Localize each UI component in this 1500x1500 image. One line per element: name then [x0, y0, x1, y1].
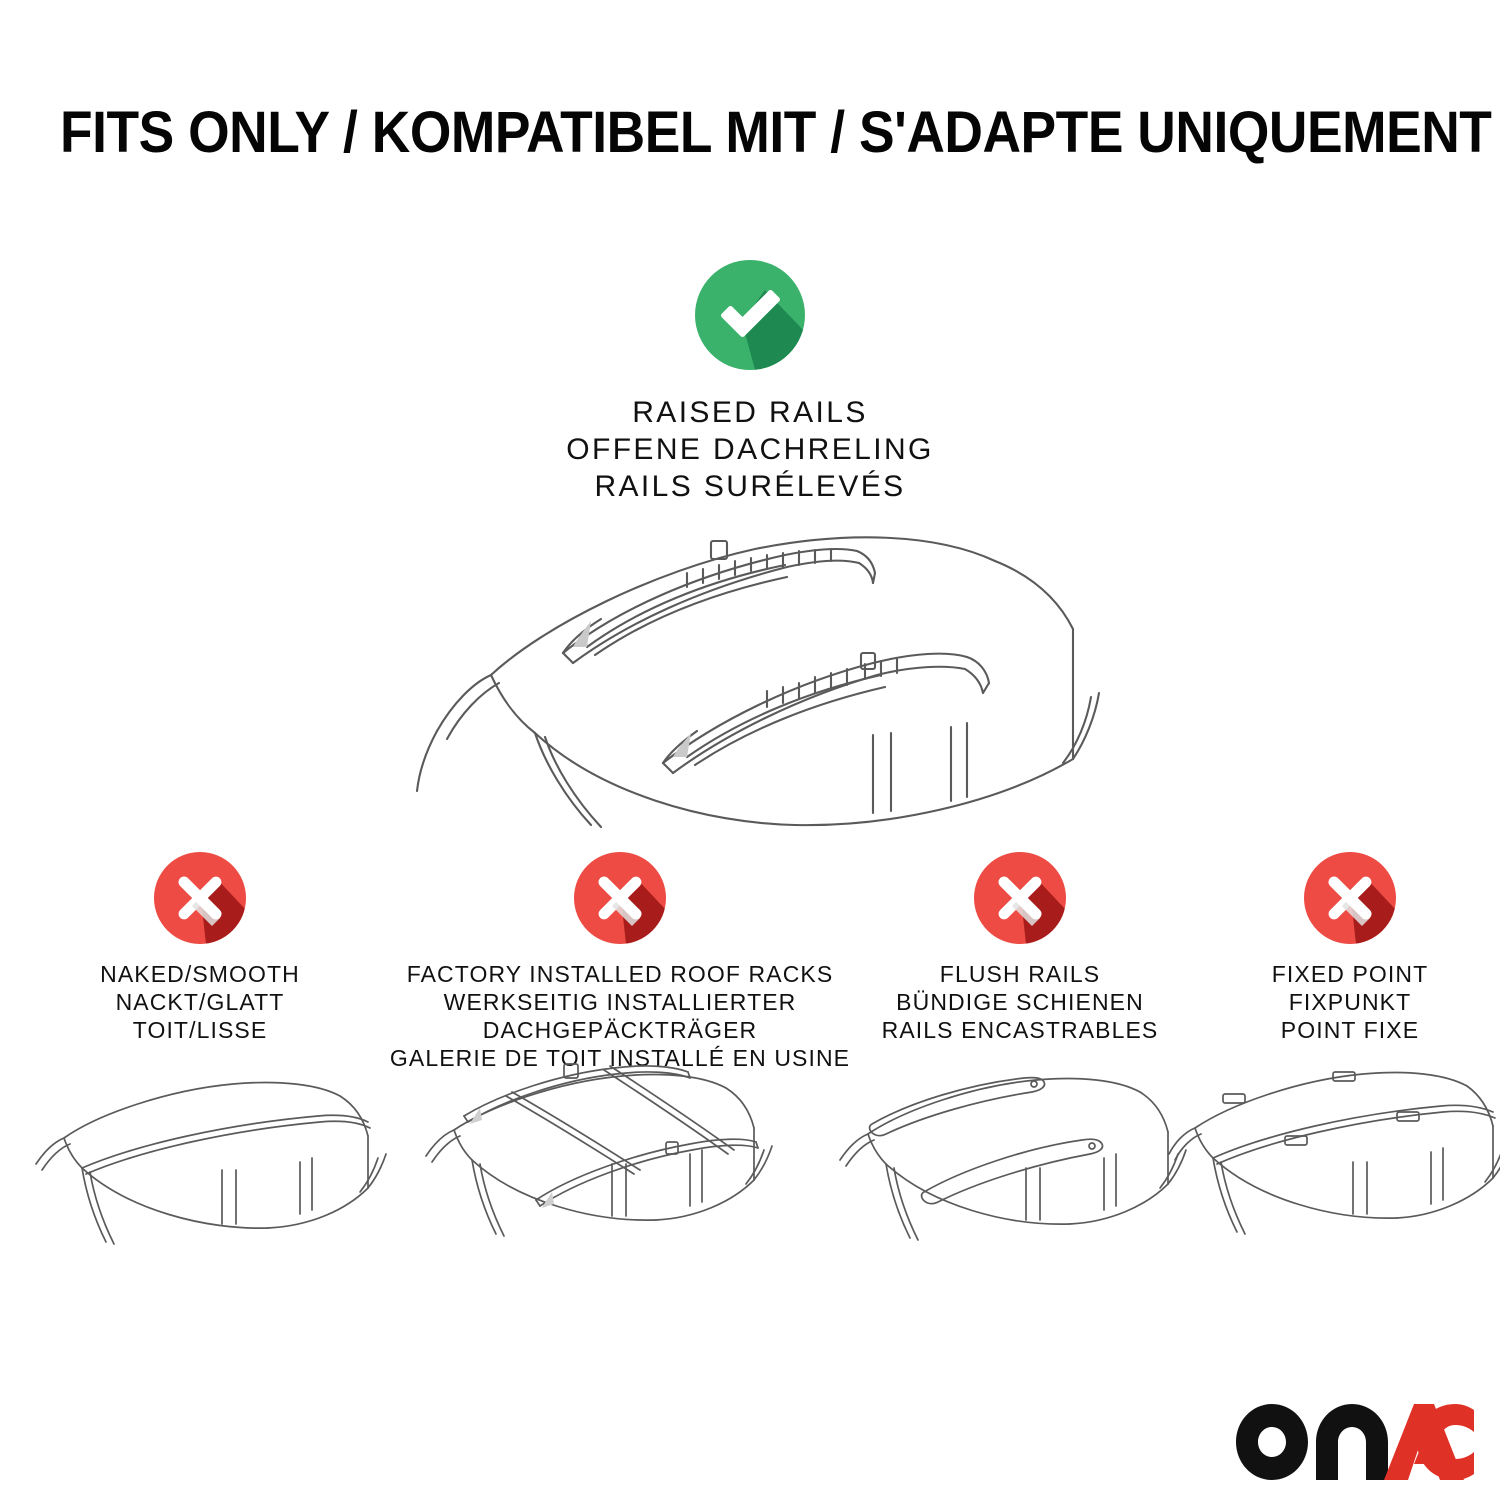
- incompatible-label-de: NACKT/GLATT: [100, 988, 300, 1016]
- incompatible-label-de-2: DACHGEPÄCKTRÄGER: [390, 1016, 850, 1044]
- car-roof-fixed-point-drawing: [1165, 1058, 1500, 1318]
- x-circle-icon: [574, 852, 666, 944]
- page-title: FITS ONLY / KOMPATIBEL MIT / S'ADAPTE UN…: [60, 104, 1440, 162]
- car-roof-raised-rails-drawing: [395, 505, 1105, 835]
- incompatible-labels: FLUSH RAILS BÜNDIGE SCHIENEN RAILS ENCAS…: [882, 960, 1159, 1044]
- incompatible-label-fr: POINT FIXE: [1272, 1016, 1429, 1044]
- incompatible-label-de: BÜNDIGE SCHIENEN: [882, 988, 1159, 1016]
- incompatible-item-flush-rails: FLUSH RAILS BÜNDIGE SCHIENEN RAILS ENCAS…: [840, 852, 1200, 1072]
- incompatible-item-factory-roof-racks: FACTORY INSTALLED ROOF RACKS WERKSEITIG …: [400, 852, 840, 1072]
- compatible-label-en: RAISED RAILS: [0, 394, 1500, 431]
- page-header: FITS ONLY / KOMPATIBEL MIT / S'ADAPTE UN…: [0, 104, 1500, 162]
- car-roof-flush-rails-drawing: [828, 1058, 1198, 1318]
- incompatible-item-fixed-point: FIXED POINT FIXPUNKT POINT FIXE: [1200, 852, 1500, 1072]
- car-roof-naked-smooth-drawing: [28, 1058, 398, 1318]
- incompatible-illustration-row: [0, 1058, 1500, 1318]
- compatible-labels: RAISED RAILS OFFENE DACHRELING RAILS SUR…: [0, 394, 1500, 505]
- incompatible-labels: FACTORY INSTALLED ROOF RACKS WERKSEITIG …: [390, 960, 850, 1072]
- omac-logo: [1236, 1404, 1474, 1480]
- x-circle-icon: [1304, 852, 1396, 944]
- incompatible-label-de-1: WERKSEITIG INSTALLIERTER: [390, 988, 850, 1016]
- incompatible-labels: FIXED POINT FIXPUNKT POINT FIXE: [1272, 960, 1429, 1044]
- incompatible-labels: NAKED/SMOOTH NACKT/GLATT TOIT/LISSE: [100, 960, 300, 1044]
- incompatible-label-de: FIXPUNKT: [1272, 988, 1429, 1016]
- incompatible-label-en: FACTORY INSTALLED ROOF RACKS: [390, 960, 850, 988]
- compatible-label-fr: RAILS SURÉLEVÉS: [0, 468, 1500, 505]
- incompatible-label-en: FIXED POINT: [1272, 960, 1429, 988]
- car-roof-factory-roof-racks-drawing: [408, 1058, 778, 1318]
- fitment-chart-page: FITS ONLY / KOMPATIBEL MIT / S'ADAPTE UN…: [0, 0, 1500, 1500]
- incompatible-row: NAKED/SMOOTH NACKT/GLATT TOIT/LISSE: [0, 852, 1500, 1072]
- x-circle-icon: [154, 852, 246, 944]
- compatible-section: RAISED RAILS OFFENE DACHRELING RAILS SUR…: [0, 260, 1500, 505]
- compatible-label-de: OFFENE DACHRELING: [0, 431, 1500, 468]
- incompatible-label-fr: RAILS ENCASTRABLES: [882, 1016, 1159, 1044]
- incompatible-label-en: FLUSH RAILS: [882, 960, 1159, 988]
- x-circle-icon: [974, 852, 1066, 944]
- incompatible-item-naked-smooth: NAKED/SMOOTH NACKT/GLATT TOIT/LISSE: [0, 852, 400, 1072]
- incompatible-label-fr: TOIT/LISSE: [100, 1016, 300, 1044]
- incompatible-label-en: NAKED/SMOOTH: [100, 960, 300, 988]
- check-circle-icon: [695, 260, 805, 370]
